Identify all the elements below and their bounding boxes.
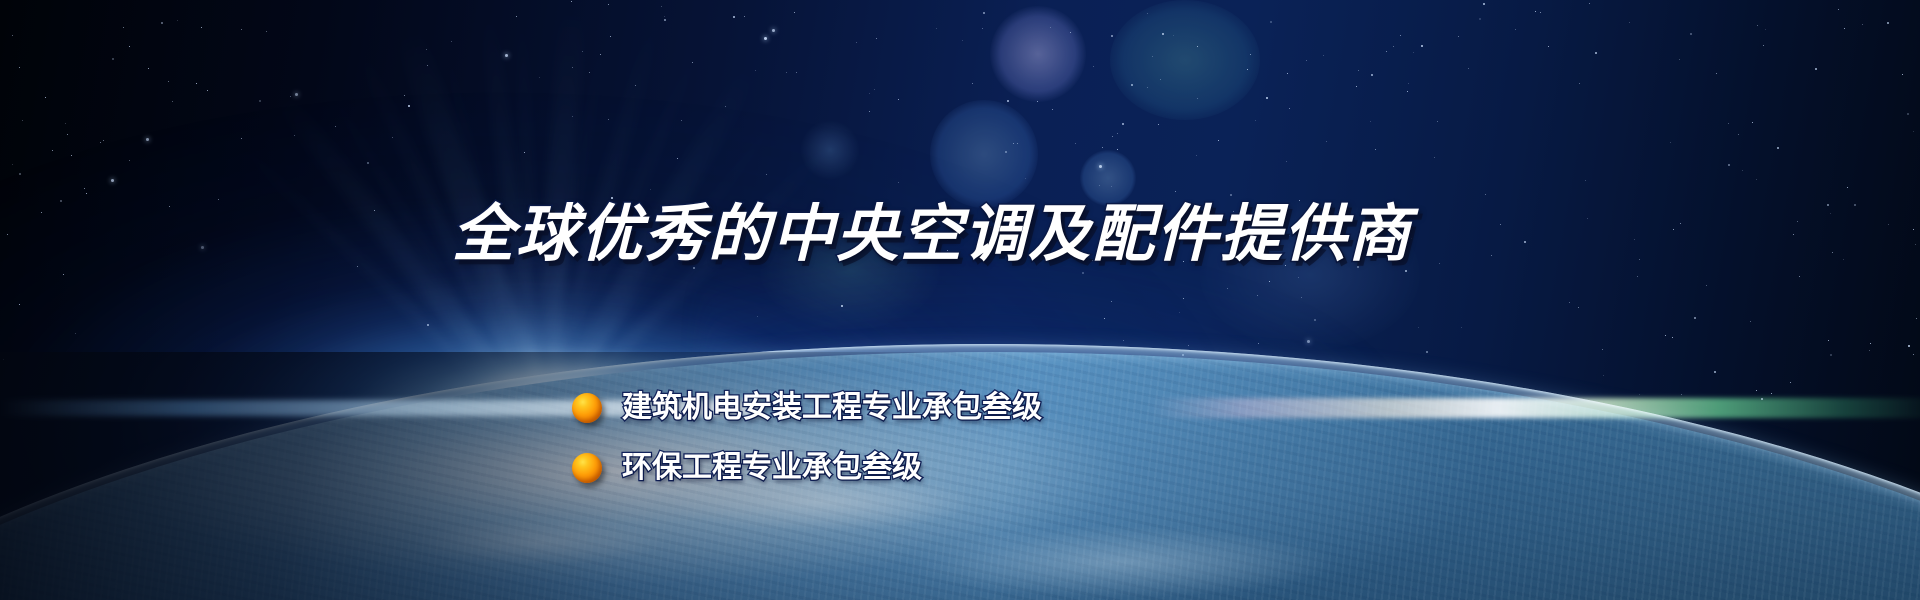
banner-content: 全球优秀的中央空调及配件提供商 建筑机电安装工程专业承包叁级 环保工程专业承包叁… (0, 0, 1920, 600)
bullet-label-1: 建筑机电安装工程专业承包叁级 (622, 393, 1042, 423)
hero-banner: 全球优秀的中央空调及配件提供商 建筑机电安装工程专业承包叁级 环保工程专业承包叁… (0, 0, 1920, 600)
bullet-label-2: 环保工程专业承包叁级 (622, 453, 922, 483)
banner-bullet-list: 建筑机电安装工程专业承包叁级 环保工程专业承包叁级 (572, 378, 1042, 498)
orange-sphere-bullet-icon (572, 453, 602, 483)
bullet-item-1: 建筑机电安装工程专业承包叁级 (572, 378, 1042, 438)
orange-sphere-bullet-icon (572, 393, 602, 423)
banner-headline: 全球优秀的中央空调及配件提供商 (452, 203, 1412, 265)
bullet-item-2: 环保工程专业承包叁级 (572, 438, 1042, 498)
